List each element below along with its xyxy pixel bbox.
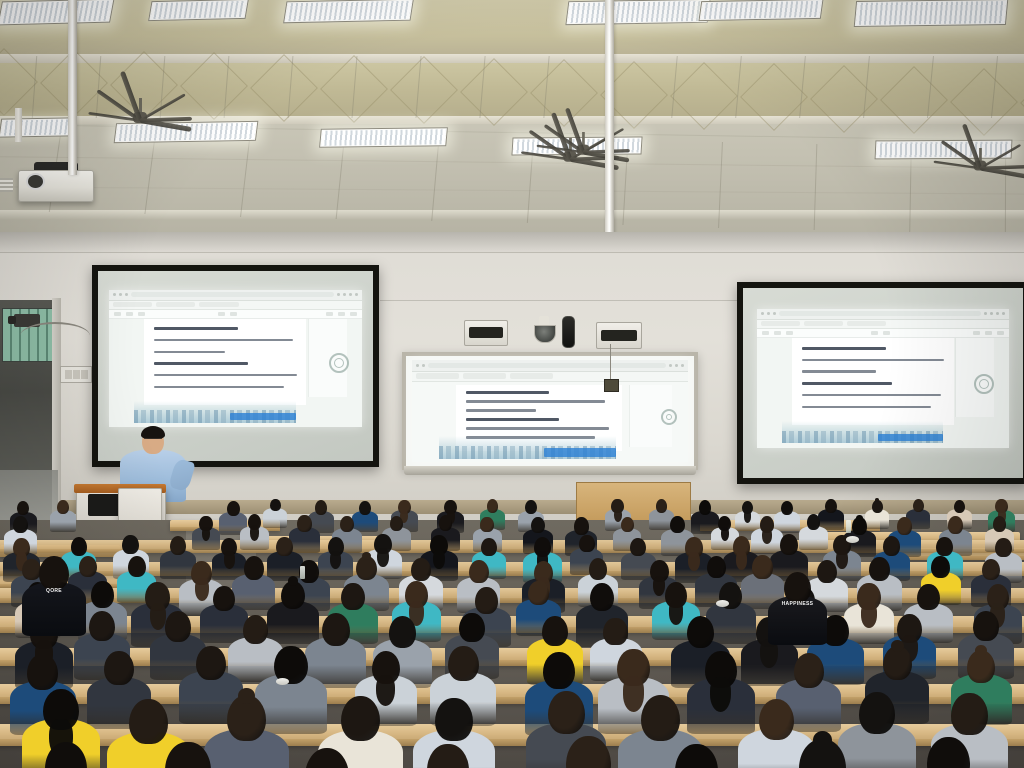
ceiling-beam-3: [0, 210, 1024, 220]
audience-member: [279, 748, 376, 768]
lecture-hall-photo: QOREHAPPINESS: [0, 0, 1024, 768]
audience-head: [13, 516, 28, 533]
audience-head: [170, 536, 187, 555]
audience-head: [670, 516, 685, 534]
audience-head: [927, 737, 970, 768]
slide-text-line: [154, 362, 248, 365]
audience-head: [39, 556, 69, 590]
audience-head: [954, 500, 965, 513]
wall-seam-1: [0, 252, 1024, 253]
audience-head: [525, 500, 537, 514]
audience-head: [122, 535, 139, 554]
slide-text-line: [802, 382, 892, 385]
slide-text-line: [154, 339, 293, 341]
cup-icon: [846, 536, 859, 543]
audience-member-graphic-tee: HAPPINESS: [768, 572, 827, 653]
camera-cable: [20, 322, 90, 350]
audience-head: [859, 692, 895, 734]
audience-head: [589, 558, 608, 580]
audience-member: [50, 500, 76, 535]
slide-text-line: [466, 418, 559, 421]
fluorescent-light-icon: [148, 0, 249, 21]
audience-head: [71, 537, 87, 556]
audience-member: [21, 742, 112, 768]
audience-head: [359, 501, 371, 515]
center-screen-slide: [412, 360, 688, 461]
slide-text-line: [154, 351, 225, 353]
audience-member-graphic-tee: QORE: [22, 556, 86, 644]
shirt-graphic-text: HAPPINESS: [775, 601, 820, 607]
audience-hair-bun: [891, 640, 903, 652]
audience-long-hair: [250, 525, 259, 540]
audience-hair-bun: [288, 576, 298, 586]
audience-head: [936, 537, 953, 556]
audience-head: [165, 742, 210, 768]
audience-head: [481, 538, 497, 556]
audience-head: [781, 501, 793, 515]
browser-tabstrip[interactable]: [412, 372, 688, 382]
projector-vent: [0, 178, 13, 192]
slide-text-line: [154, 386, 284, 388]
audience-head: [469, 560, 489, 583]
audience-head: [883, 536, 900, 556]
audience-member: [772, 739, 872, 768]
fluorescent-light-icon: [698, 0, 823, 21]
support-pole-left: [68, 0, 77, 175]
ceiling-dome-camera-icon: [533, 316, 555, 344]
wall-top-shadow: [0, 232, 1024, 254]
right-projection-screen[interactable]: [737, 282, 1024, 484]
audience-head: [590, 583, 614, 611]
slide-text-line: [466, 391, 549, 394]
audience-head: [213, 586, 235, 611]
audience-head: [475, 587, 498, 613]
audience-head: [548, 691, 585, 734]
whiteboard-pen-tray: [404, 466, 696, 475]
browser-address-bar[interactable]: [779, 311, 981, 316]
audience-head: [807, 514, 821, 530]
light-lens: [0, 1, 112, 24]
slide-blue-banner: [230, 413, 296, 420]
audience-head: [439, 515, 453, 531]
cup-icon: [716, 600, 729, 607]
audience-head: [243, 615, 268, 644]
projector-lens: [26, 173, 45, 190]
audience-member: [403, 744, 493, 768]
audience-head: [128, 556, 146, 577]
fluorescent-light-icon: [854, 0, 1009, 27]
slide-text-line: [154, 327, 238, 330]
audience-head: [270, 499, 281, 512]
light-lens: [321, 129, 446, 146]
audience-head: [448, 646, 479, 681]
slide-text-line: [466, 409, 536, 411]
audience-head: [913, 499, 924, 512]
browser-tabstrip[interactable]: [757, 320, 1009, 329]
browser-titlebar: [109, 290, 362, 301]
circular-seal-watermark-icon: [974, 374, 994, 394]
browser-address-bar[interactable]: [131, 292, 334, 297]
audience-head: [129, 699, 168, 744]
light-lens: [701, 1, 822, 19]
audience-head: [480, 517, 493, 533]
browser-address-bar[interactable]: [428, 363, 666, 369]
browser-titlebar: [412, 360, 688, 371]
audience-head: [641, 695, 681, 741]
audience-head: [825, 499, 837, 513]
audience-head: [487, 499, 499, 513]
slide-blue-banner: [878, 434, 944, 441]
audience-head: [27, 654, 58, 690]
browser-tabstrip[interactable]: [109, 301, 362, 310]
audience-head: [948, 516, 963, 533]
left-screen-slide: [109, 290, 362, 427]
slide-blue-banner: [544, 448, 616, 456]
audience-head: [89, 611, 115, 641]
audience-head: [574, 517, 589, 534]
audience-head: [322, 613, 350, 646]
audience-head: [542, 616, 568, 646]
audience-head: [104, 651, 134, 685]
fluorescent-light-icon: [319, 127, 448, 148]
audience-head: [427, 744, 469, 768]
audience-head: [707, 556, 726, 578]
audience-head: [390, 516, 404, 532]
audience-hair-bun: [813, 731, 833, 749]
camera-dome: [534, 325, 556, 343]
wall-speaker-left: [464, 320, 508, 346]
water-bottle-icon: [846, 520, 851, 533]
cup-icon: [276, 678, 289, 685]
audience-head: [57, 500, 69, 514]
audience-head: [917, 584, 940, 610]
sensor-hanging-wire: [610, 344, 611, 380]
audience-head: [951, 693, 987, 735]
audience-head: [315, 500, 328, 514]
document-toolbar[interactable]: [109, 310, 362, 319]
audience-member: [540, 736, 637, 768]
light-lens: [285, 1, 411, 22]
fluorescent-light-icon: [283, 0, 414, 23]
document-page: [144, 319, 306, 405]
slide-text-line: [802, 370, 876, 372]
document-page: [792, 338, 953, 425]
fluorescent-light-icon: [0, 117, 73, 137]
audience-head: [656, 499, 668, 513]
projector-mount-pole: [15, 108, 22, 142]
fluorescent-light-icon: [0, 0, 115, 25]
audience-long-hair: [710, 677, 731, 712]
slide-text-line: [802, 394, 941, 396]
audience-long-hair: [744, 510, 751, 522]
audience-head: [435, 698, 473, 742]
audience-head: [995, 538, 1012, 558]
wall-speaker-right: [596, 322, 642, 349]
audience-head: [543, 652, 575, 689]
audience-head: [869, 557, 890, 581]
fluorescent-light-icon: [565, 0, 710, 25]
audience-head: [297, 515, 311, 532]
shirt-graphic-text: QORE: [30, 588, 79, 594]
audience-hair-bun: [856, 515, 862, 521]
audience-head: [459, 613, 484, 642]
audience-member: [650, 744, 743, 768]
audience-head: [389, 616, 416, 648]
audience-head: [603, 618, 627, 646]
audience-head: [411, 558, 431, 581]
audience-head: [675, 744, 718, 768]
audience-head: [993, 516, 1007, 532]
right-screen-surface: [743, 288, 1023, 478]
audience-head: [566, 736, 611, 768]
audience-head: [196, 646, 226, 680]
audience-member: [139, 742, 237, 768]
audience-head: [531, 517, 545, 533]
audience-head: [45, 742, 87, 768]
audience-head: [687, 616, 715, 648]
audience-head: [276, 537, 293, 556]
circular-seal-watermark-icon: [661, 409, 677, 425]
slide-text-line: [466, 427, 609, 429]
audience-head: [91, 581, 114, 607]
lecturer-glasses: [144, 438, 162, 443]
slide-text-line: [466, 400, 605, 402]
audience-member: [902, 737, 995, 768]
audience-head: [227, 501, 240, 516]
light-lens: [856, 1, 1006, 25]
slide-text-line: [802, 406, 931, 408]
audience-head: [165, 611, 191, 641]
audience-head: [341, 583, 364, 610]
speaker-grill: [469, 327, 503, 338]
ir-illuminator-bar-icon: [562, 316, 575, 348]
audience-head: [305, 748, 350, 768]
slide-text-line: [802, 359, 944, 361]
audience-long-hair: [330, 551, 341, 569]
audience-head: [699, 500, 712, 515]
audience-head: [897, 517, 912, 534]
slide-text-line: [154, 374, 297, 376]
fluorescent-light-icon: [114, 121, 259, 143]
audience-head: [340, 516, 354, 532]
browser-titlebar: [757, 309, 1009, 320]
hanging-sensor-box-icon: [604, 379, 619, 392]
audience-head: [341, 696, 380, 741]
audience-head: [621, 517, 634, 532]
water-bottle-icon: [300, 566, 305, 579]
center-whiteboard-display[interactable]: [402, 352, 698, 470]
audience-head: [244, 556, 264, 579]
right-screen-slide: [757, 309, 1009, 448]
audience-head: [759, 699, 795, 740]
slide-text-line: [802, 347, 886, 350]
audience-head: [794, 653, 824, 688]
audience-head: [931, 556, 950, 577]
light-lens: [568, 1, 709, 23]
audience-hair-bun: [238, 688, 255, 703]
audience-head: [784, 572, 812, 603]
audience-head: [982, 559, 1000, 580]
document-toolbar[interactable]: [757, 329, 1009, 338]
audience-head: [780, 534, 798, 555]
audience-head: [528, 581, 549, 605]
power-outlet-left[interactable]: [60, 366, 92, 383]
audience-head: [579, 535, 594, 553]
light-lens: [150, 1, 246, 19]
audience-head: [973, 611, 999, 641]
light-lens: [1, 119, 71, 135]
speaker-grill: [601, 330, 636, 341]
